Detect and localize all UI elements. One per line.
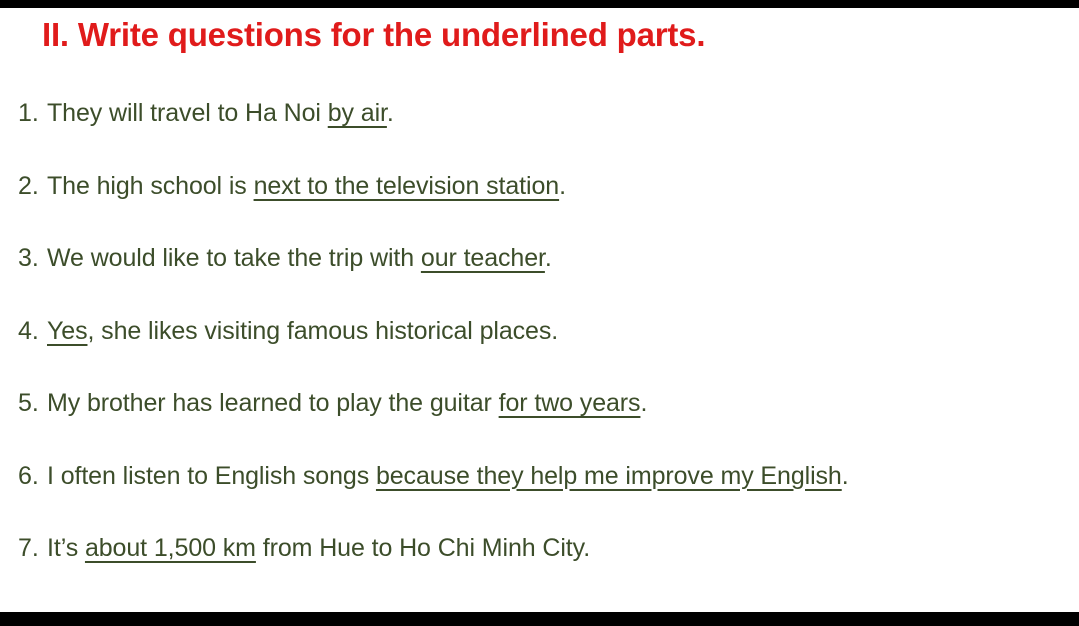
underlined-phrase: because they help me improve my English	[376, 462, 842, 490]
question-text: It’s about 1,500 km from Hue to Ho Chi M…	[47, 531, 590, 565]
text-segment: , she likes visiting famous historical p…	[87, 317, 558, 345]
question-number: 7.	[0, 531, 47, 565]
question-number: 4.	[0, 314, 47, 348]
question-text: I often listen to English songs because …	[47, 459, 849, 493]
question-text: They will travel to Ha Noi by air.	[47, 96, 394, 130]
underlined-phrase: our teacher	[421, 244, 545, 272]
text-segment: They will travel to Ha Noi	[47, 99, 328, 127]
question-item: 2.The high school is next to the televis…	[0, 169, 1079, 242]
underlined-phrase: Yes	[47, 317, 87, 345]
text-segment: My brother has learned to play the guita…	[47, 389, 499, 417]
question-text: My brother has learned to play the guita…	[47, 386, 647, 420]
question-text: Yes, she likes visiting famous historica…	[47, 314, 558, 348]
bottom-letterbox-bar	[0, 612, 1079, 626]
underlined-phrase: for two years	[499, 389, 641, 417]
page-title: II. Write questions for the underlined p…	[42, 16, 705, 54]
question-item: 3.We would like to take the trip with ou…	[0, 241, 1079, 314]
text-segment: .	[640, 389, 647, 417]
question-text: The high school is next to the televisio…	[47, 169, 566, 203]
question-item: 6.I often listen to English songs becaus…	[0, 459, 1079, 532]
question-item: 5.My brother has learned to play the gui…	[0, 386, 1079, 459]
question-item: 1.They will travel to Ha Noi by air.	[0, 96, 1079, 169]
text-segment: .	[545, 244, 552, 272]
question-item: 4.Yes, she likes visiting famous histori…	[0, 314, 1079, 387]
text-segment: .	[842, 462, 849, 490]
text-segment: We would like to take the trip with	[47, 244, 421, 272]
text-segment: .	[559, 172, 566, 200]
text-segment: from Hue to Ho Chi Minh City.	[256, 534, 590, 562]
question-list: 1.They will travel to Ha Noi by air.2.Th…	[0, 96, 1079, 604]
text-segment: .	[387, 99, 394, 127]
question-item: 7.It’s about 1,500 km from Hue to Ho Chi…	[0, 531, 1079, 604]
question-number: 3.	[0, 241, 47, 275]
slide-canvas: II. Write questions for the underlined p…	[0, 0, 1079, 626]
underlined-phrase: next to the television station	[254, 172, 560, 200]
question-text: We would like to take the trip with our …	[47, 241, 552, 275]
text-segment: I often listen to English songs	[47, 462, 376, 490]
top-letterbox-bar	[0, 0, 1079, 8]
text-segment: It’s	[47, 534, 85, 562]
question-number: 6.	[0, 459, 47, 493]
underlined-phrase: by air	[328, 99, 387, 127]
question-number: 5.	[0, 386, 47, 420]
underlined-phrase: about 1,500 km	[85, 534, 256, 562]
question-number: 2.	[0, 169, 47, 203]
text-segment: The high school is	[47, 172, 254, 200]
question-number: 1.	[0, 96, 47, 130]
